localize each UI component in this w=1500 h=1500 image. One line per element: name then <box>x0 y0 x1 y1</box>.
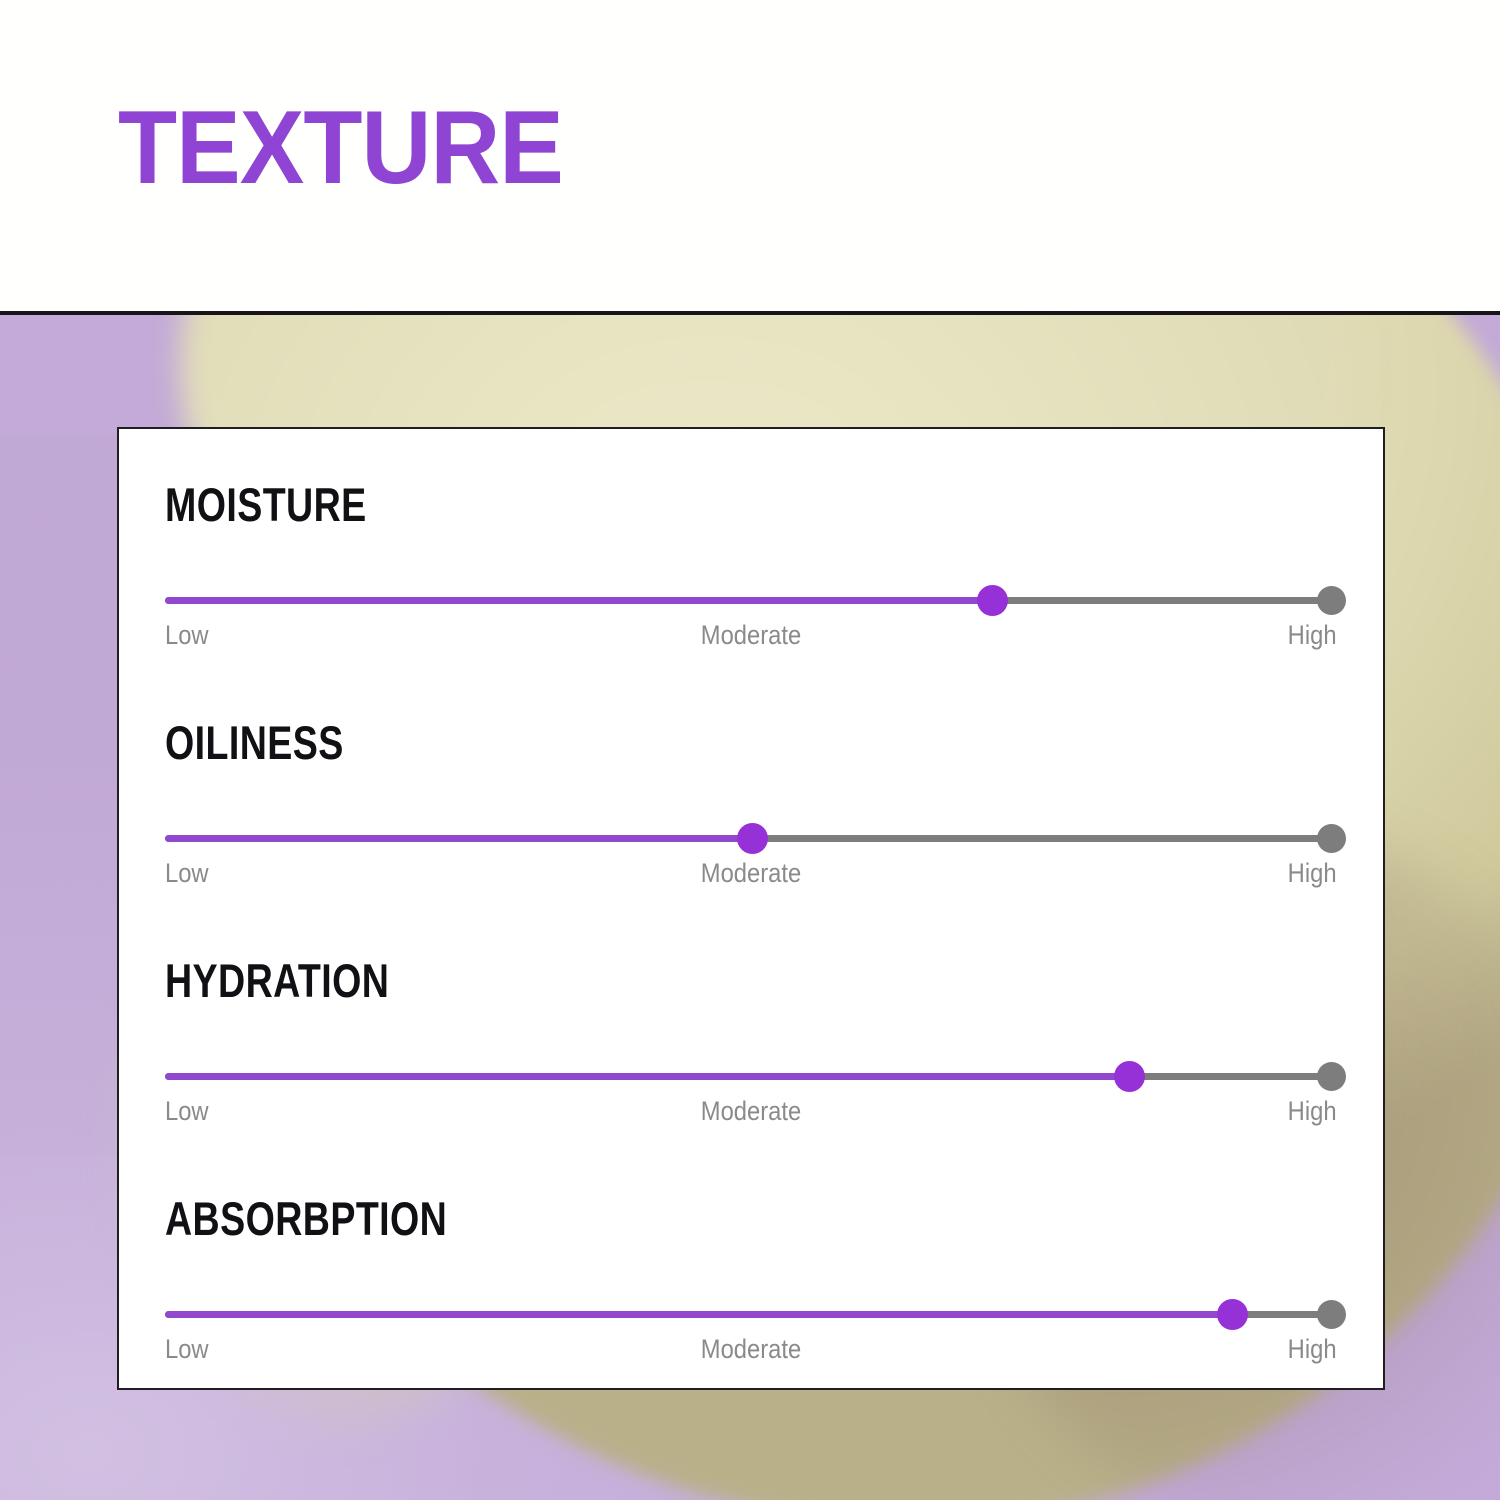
metric-row-oiliness: OILINESS Low Moderate High <box>165 707 1337 945</box>
slider-scale-hydration: Low Moderate High <box>165 1097 1337 1131</box>
slider-oiliness[interactable] <box>165 821 1337 855</box>
slider-fill-moisture <box>165 597 992 604</box>
metric-row-absorption: ABSORBPTION Low Moderate High <box>165 1183 1337 1383</box>
slider-knob-oiliness[interactable] <box>737 823 768 854</box>
scale-label-high: High <box>1288 1097 1337 1127</box>
slider-end-dot-moisture <box>1317 586 1346 615</box>
metrics-list: MOISTURE Low Moderate High OILINESS <box>165 469 1337 1383</box>
scale-label-moderate: Moderate <box>701 859 801 889</box>
slider-end-dot-absorption <box>1317 1300 1346 1329</box>
scale-label-low: Low <box>165 1335 209 1365</box>
scale-label-high: High <box>1288 859 1337 889</box>
slider-moisture[interactable] <box>165 583 1337 617</box>
scale-label-low: Low <box>165 1097 209 1127</box>
slider-fill-absorption <box>165 1311 1232 1318</box>
slider-fill-hydration <box>165 1073 1129 1080</box>
metric-label-oiliness: OILINESS <box>165 719 344 766</box>
slider-absorption[interactable] <box>165 1297 1337 1331</box>
slider-scale-oiliness: Low Moderate High <box>165 859 1337 893</box>
scale-label-high: High <box>1288 1335 1337 1365</box>
metric-row-hydration: HYDRATION Low Moderate High <box>165 945 1337 1183</box>
scale-label-moderate: Moderate <box>701 621 801 651</box>
texture-metrics-card: MOISTURE Low Moderate High OILINESS <box>117 427 1385 1390</box>
slider-fill-oiliness <box>165 835 752 842</box>
scale-label-low: Low <box>165 859 209 889</box>
metric-row-moisture: MOISTURE Low Moderate High <box>165 469 1337 707</box>
slider-end-dot-hydration <box>1317 1062 1346 1091</box>
slider-knob-hydration[interactable] <box>1114 1061 1145 1092</box>
slider-hydration[interactable] <box>165 1059 1337 1093</box>
scale-label-high: High <box>1288 621 1337 651</box>
header-band: TEXTURE <box>0 0 1500 311</box>
metric-label-absorption: ABSORBPTION <box>165 1195 447 1242</box>
scale-label-low: Low <box>165 621 209 651</box>
slider-scale-absorption: Low Moderate High <box>165 1335 1337 1369</box>
page-title: TEXTURE <box>118 96 563 200</box>
slider-scale-moisture: Low Moderate High <box>165 621 1337 655</box>
texture-infographic-page: TEXTURE MOISTURE Low Moderat <box>0 0 1500 1500</box>
slider-end-dot-oiliness <box>1317 824 1346 853</box>
slider-knob-absorption[interactable] <box>1217 1299 1248 1330</box>
slider-knob-moisture[interactable] <box>977 585 1008 616</box>
metric-label-hydration: HYDRATION <box>165 957 389 1004</box>
metric-label-moisture: MOISTURE <box>165 481 367 528</box>
scale-label-moderate: Moderate <box>701 1335 801 1365</box>
scale-label-moderate: Moderate <box>701 1097 801 1127</box>
